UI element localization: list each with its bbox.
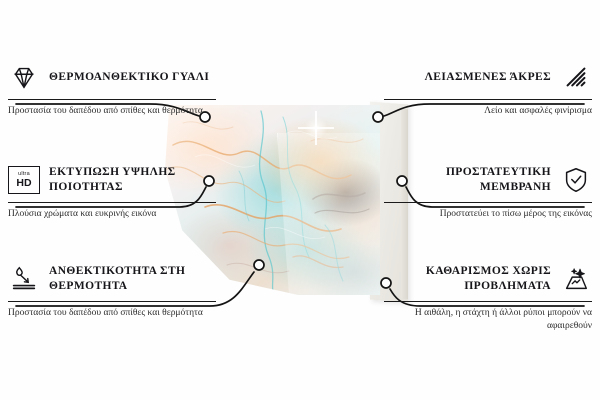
feature-subtitle: Πλούσια χρώματα και ευκρινής εικόνα — [8, 208, 216, 221]
feature-protective-membrane: ΠΡΟΣΤΑΤΕΥΤΙΚΗ ΜΕΜΒΡΑΝΗ Προστατεύει το πί… — [384, 163, 592, 221]
divider — [8, 99, 216, 100]
feature-subtitle: Προστασία του δαπέδου από σπίθες και θερ… — [8, 307, 216, 320]
infographic-canvas: ΘΕΡΜΟΑΝΘΕΚΤΙΚΟ ΓΥΑΛΙ Προστασία του δαπέδ… — [0, 0, 600, 400]
feature-subtitle: Η αιθάλη, η στάχτη ή άλλοι ρύποι μπορούν… — [384, 307, 592, 332]
feature-header: ΑΝΘΕΚΤΙΚΟΤΗΤΑ ΣΤΗ ΘΕΡΜΟΤΗΤΑ — [8, 262, 216, 296]
ultra-hd-badge-icon: ultra HD — [8, 164, 40, 196]
ultra-hd-badge-main: HD — [16, 178, 31, 189]
glass-glint-icon — [303, 115, 329, 141]
divider — [8, 301, 216, 302]
feature-heat-durability: ΑΝΘΕΚΤΙΚΟΤΗΤΑ ΣΤΗ ΘΕΡΜΟΤΗΤΑ Προστασία το… — [8, 262, 216, 320]
feature-high-quality-print: ultra HD ΕΚΤΥΠΩΣΗ ΥΨΗΛΗΣ ΠΟΙΟΤΗΤΑΣ Πλούσ… — [8, 163, 216, 221]
feature-title: ΛΕΙΑΣΜΕΝΕΣ ΆΚΡΕΣ — [425, 70, 551, 85]
divider — [384, 301, 592, 302]
divider — [8, 202, 216, 203]
flame-deflect-icon — [8, 263, 40, 295]
feature-header: ΚΑΘΑΡΙΣΜΟΣ ΧΩΡΙΣ ΠΡΟΒΛΗΜΑΤΑ — [384, 262, 592, 296]
shield-check-icon — [560, 164, 592, 196]
divider — [384, 202, 592, 203]
divider — [384, 99, 592, 100]
feature-title: ΠΡΟΣΤΑΤΕΥΤΙΚΗ ΜΕΜΒΡΑΝΗ — [384, 165, 551, 195]
feature-title: ΘΕΡΜΟΑΝΘΕΚΤΙΚΟ ΓΥΑΛΙ — [49, 70, 209, 85]
feature-subtitle: Προστατεύει το πίσω μέρος της εικόνας — [384, 208, 592, 221]
feature-header: ΘΕΡΜΟΑΝΘΕΚΤΙΚΟ ΓΥΑΛΙ — [8, 60, 216, 94]
diamond-icon — [8, 61, 40, 93]
feature-header: ultra HD ΕΚΤΥΠΩΣΗ ΥΨΗΛΗΣ ΠΟΙΟΤΗΤΑΣ — [8, 163, 216, 197]
feature-title: ΕΚΤΥΠΩΣΗ ΥΨΗΛΗΣ ΠΟΙΟΤΗΤΑΣ — [49, 165, 216, 195]
feature-title: ΚΑΘΑΡΙΣΜΟΣ ΧΩΡΙΣ ΠΡΟΒΛΗΜΑΤΑ — [384, 264, 551, 294]
feature-polished-edges: ΛΕΙΑΣΜΕΝΕΣ ΆΚΡΕΣ Λείο και ασφαλές φινίρι… — [384, 60, 592, 118]
feature-easy-cleaning: ΚΑΘΑΡΙΣΜΟΣ ΧΩΡΙΣ ΠΡΟΒΛΗΜΑΤΑ Η αιθάλη, η … — [384, 262, 592, 332]
hatched-triangle-icon — [560, 61, 592, 93]
feature-heat-resistant-glass: ΘΕΡΜΟΑΝΘΕΚΤΙΚΟ ΓΥΑΛΙ Προστασία του δαπέδ… — [8, 60, 216, 118]
feature-header: ΠΡΟΣΤΑΤΕΥΤΙΚΗ ΜΕΜΒΡΑΝΗ — [384, 163, 592, 197]
feature-subtitle: Προστασία του δαπέδου από σπίθες και θερ… — [8, 105, 216, 118]
sparkle-wipe-icon — [560, 263, 592, 295]
feature-subtitle: Λείο και ασφαλές φινίρισμα — [384, 105, 592, 118]
feature-header: ΛΕΙΑΣΜΕΝΕΣ ΆΚΡΕΣ — [384, 60, 592, 94]
feature-title: ΑΝΘΕΚΤΙΚΟΤΗΤΑ ΣΤΗ ΘΕΡΜΟΤΗΤΑ — [49, 264, 216, 294]
